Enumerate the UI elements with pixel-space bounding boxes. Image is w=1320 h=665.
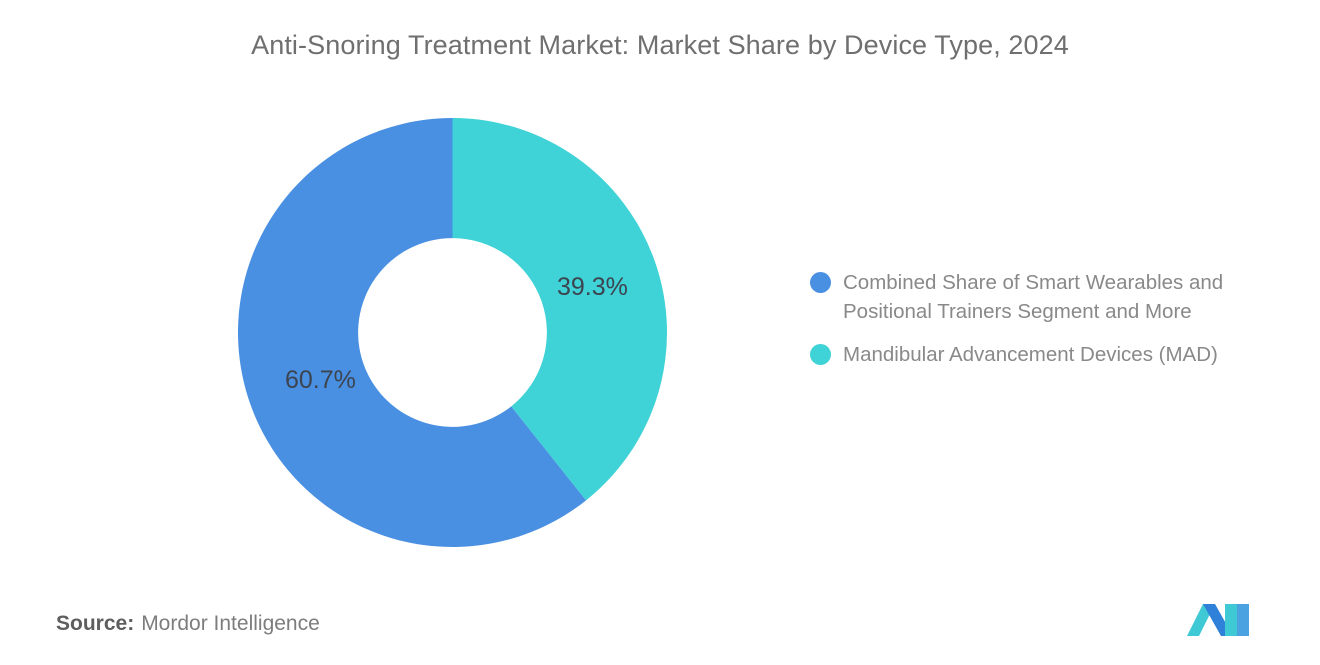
chart-figure: Anti-Snoring Treatment Market: Market Sh… [0, 0, 1320, 665]
slice-value-label-mad: 39.3% [557, 273, 628, 302]
legend-swatch-circle-icon [810, 272, 831, 293]
chart-legend: Combined Share of Smart Wearables and Po… [810, 268, 1280, 383]
donut-chart-svg [238, 118, 667, 547]
source-line: Source:Mordor Intelligence [56, 612, 320, 636]
source-name-label: Mordor Intelligence [141, 612, 320, 635]
legend-swatch-circle-icon [810, 344, 831, 365]
logo-svg [1185, 598, 1257, 636]
source-prefix-label: Source: [56, 612, 134, 635]
mordor-intelligence-logo-icon [1185, 598, 1257, 636]
logo-shape-3 [1225, 604, 1237, 636]
legend-item-mad[interactable]: Mandibular Advancement Devices (MAD) [810, 340, 1280, 369]
legend-item-label: Combined Share of Smart Wearables and Po… [843, 268, 1263, 326]
chart-title: Anti-Snoring Treatment Market: Market Sh… [0, 30, 1320, 61]
legend-item-label: Mandibular Advancement Devices (MAD) [843, 340, 1218, 369]
legend-item-combined[interactable]: Combined Share of Smart Wearables and Po… [810, 268, 1280, 326]
donut-slices [238, 118, 667, 547]
slice-value-label-combined: 60.7% [285, 366, 356, 395]
logo-shape-4 [1237, 604, 1249, 636]
donut-chart [238, 118, 667, 547]
